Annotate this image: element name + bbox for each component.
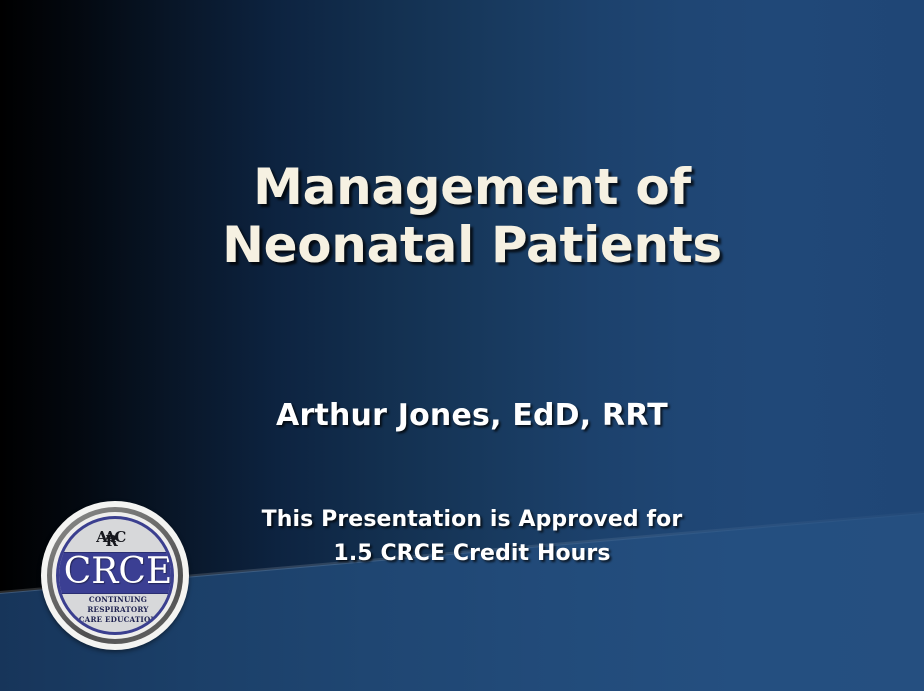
approval-line-1: This Presentation is Approved for (262, 507, 683, 532)
slide-title: Management of Neonatal Patients (152, 158, 792, 274)
approval-statement: This Presentation is Approved for 1.5 CR… (152, 503, 792, 571)
logo-acronym: CRCE (59, 550, 174, 594)
presentation-slide: Management of Neonatal Patients Arthur J… (0, 0, 924, 691)
logo-tagline-line-1: CONTINUING RESPIRATORY (87, 595, 148, 614)
approval-line-2: 1.5 CRCE Credit Hours (152, 537, 792, 571)
presenter-name: Arthur Jones, EdD, RRT (152, 398, 792, 433)
logo-tagline-line-2: CARE EDUCATION (59, 615, 174, 625)
logo-disc: AARC CRCE CONTINUING RESPIRATORY CARE ED… (56, 516, 174, 635)
aarc-mark-icon: AARC (59, 530, 171, 545)
crce-logo: AARC CRCE CONTINUING RESPIRATORY CARE ED… (41, 501, 189, 650)
slide-content: Management of Neonatal Patients Arthur J… (0, 0, 924, 691)
aarc-letter-c: C (114, 528, 123, 546)
logo-tagline: CONTINUING RESPIRATORY CARE EDUCATION (59, 595, 174, 625)
